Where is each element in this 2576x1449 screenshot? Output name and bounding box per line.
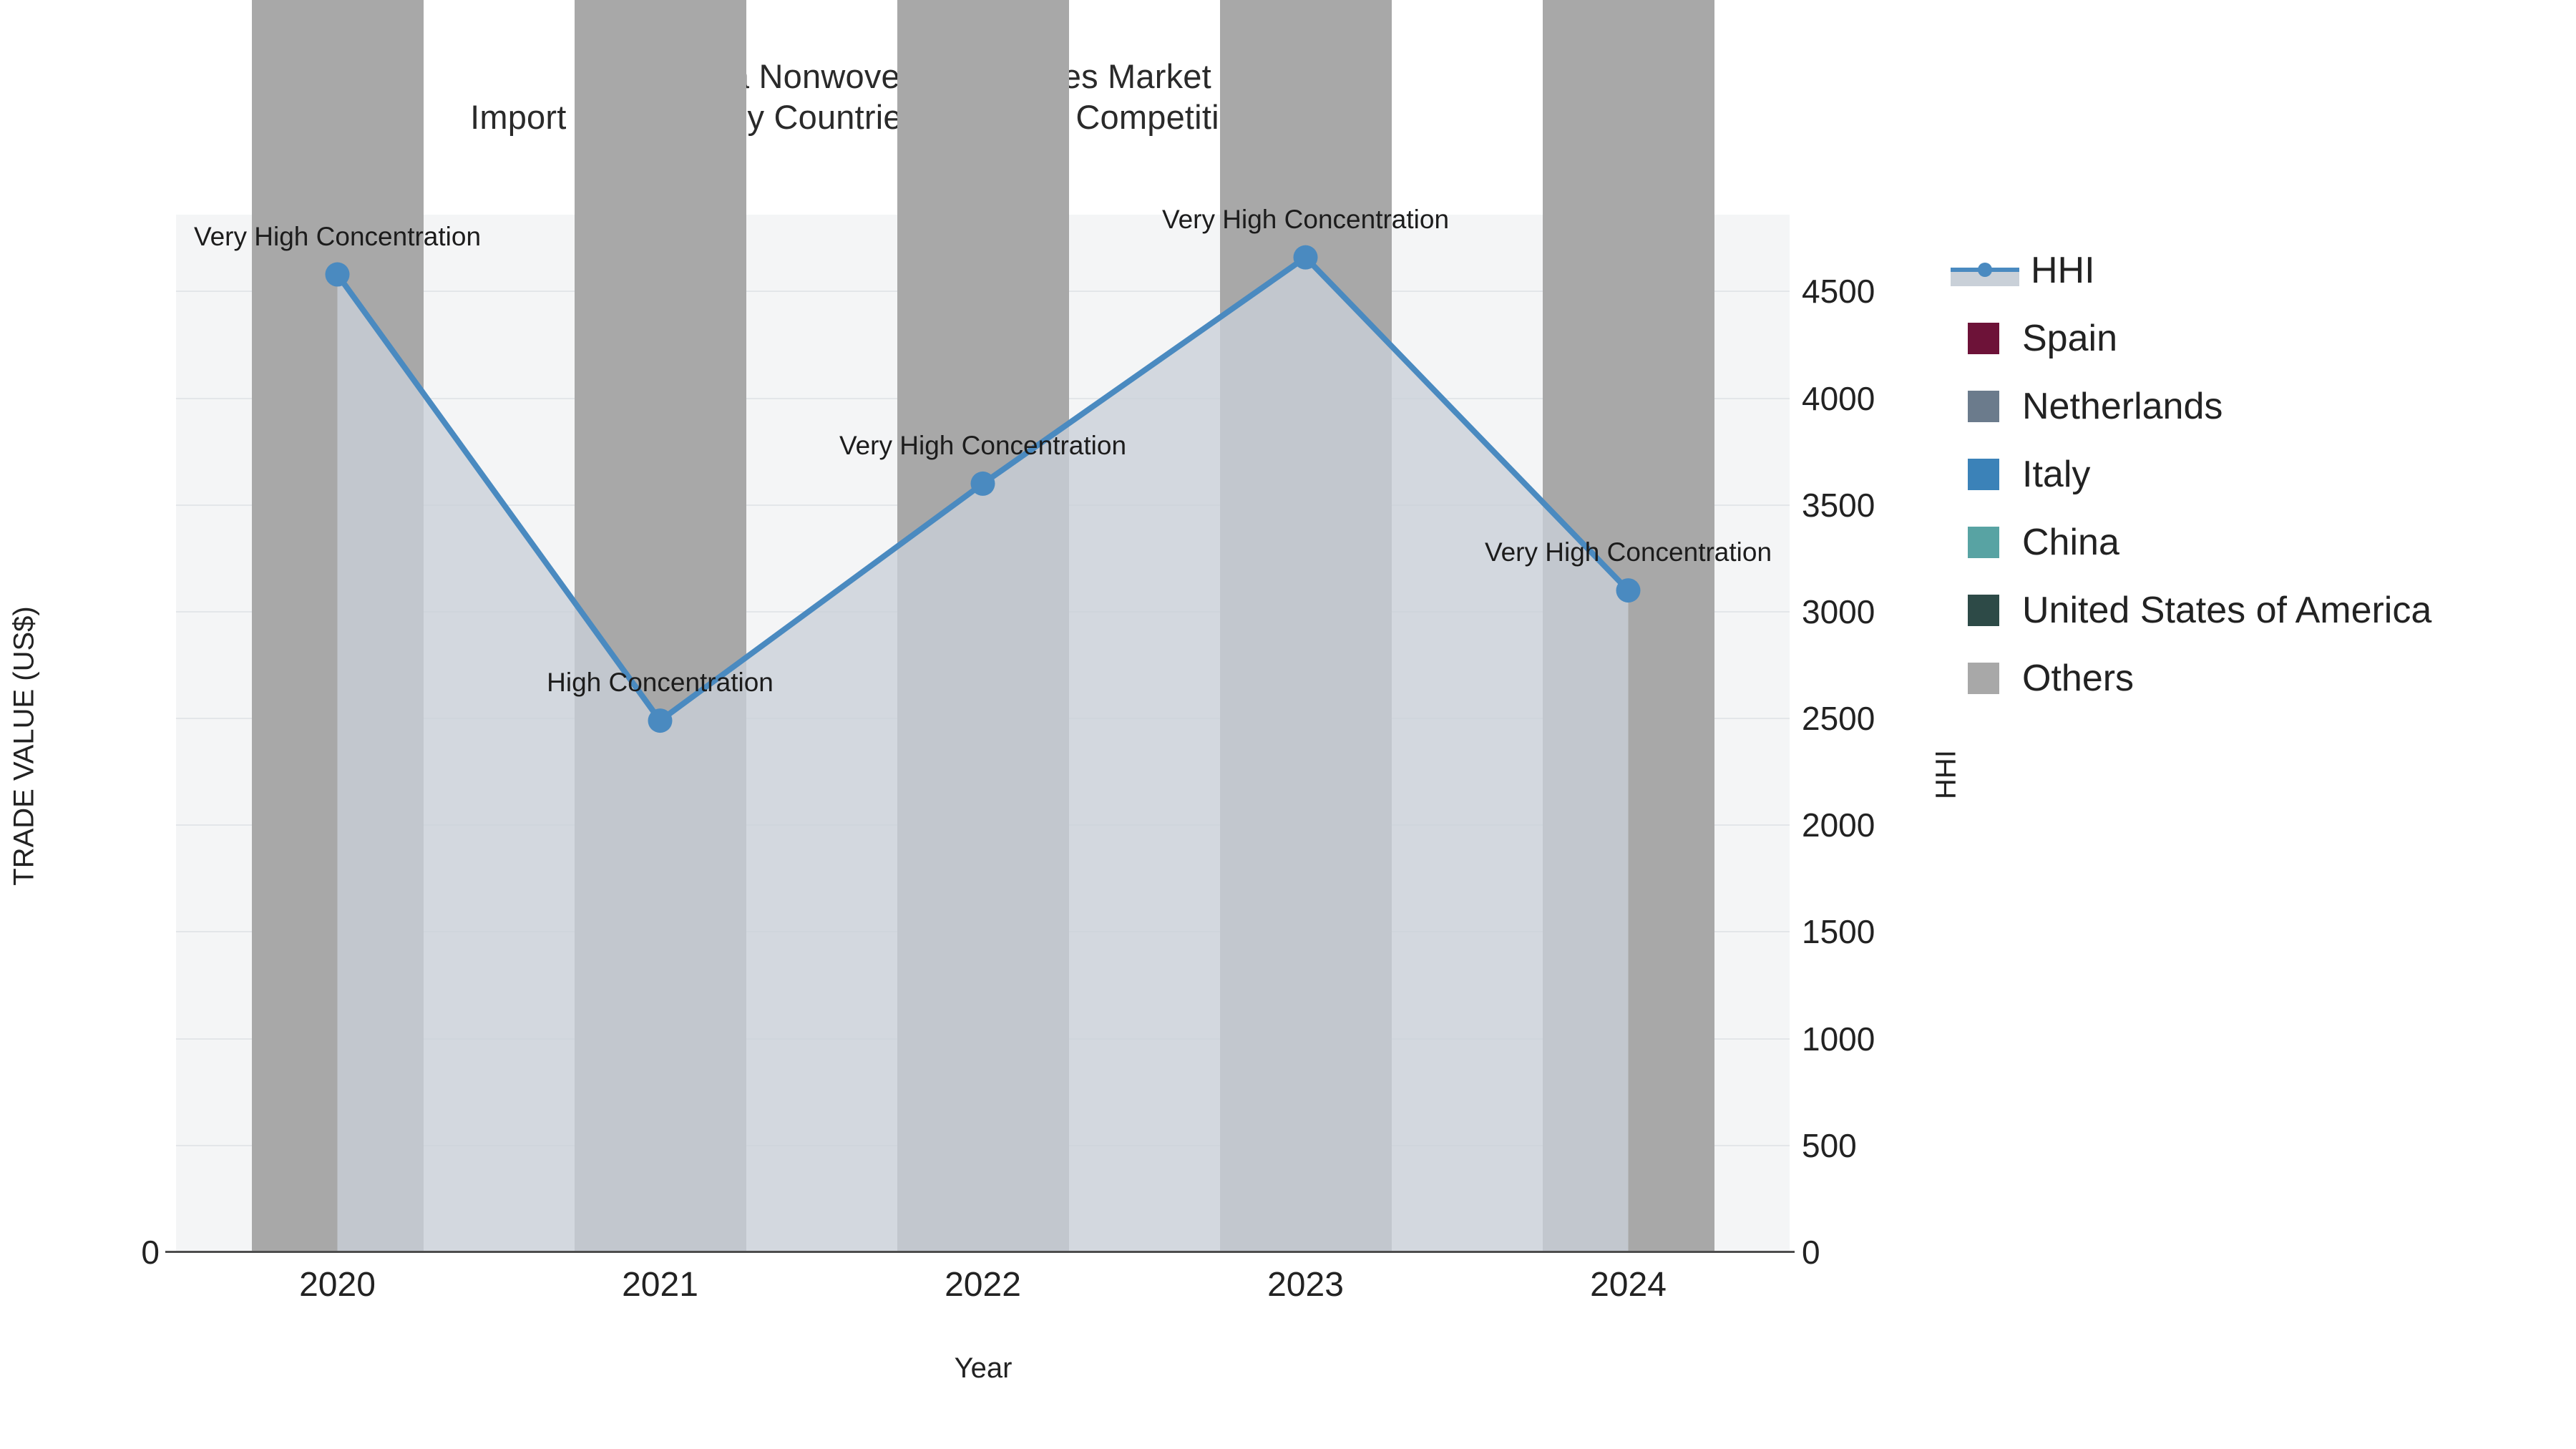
legend-color-swatch — [1968, 527, 1999, 558]
y-axis-zero-tick — [165, 1251, 177, 1253]
legend-item-label: HHI — [2031, 249, 2095, 292]
legend-item-spain[interactable]: Spain — [1959, 304, 2546, 372]
legend-item-netherlands[interactable]: Netherlands — [1959, 372, 2546, 440]
chart-root: Colombia Nonwoven Geotextiles Market Imp… — [0, 0, 2576, 1449]
x-tick-label-2020[interactable]: 2020 — [299, 1265, 376, 1304]
legend-color-swatch — [1968, 391, 1999, 422]
bar-segment-others[interactable] — [575, 0, 746, 1252]
annotation-2024: Very High Concentration — [1485, 537, 1772, 567]
right-axis-title: HHI — [1931, 689, 1963, 861]
right-tick-label-1000: 1000 — [1802, 1020, 1875, 1058]
annotation-2020: Very High Concentration — [194, 222, 481, 252]
bar-segment-others[interactable] — [1220, 0, 1392, 1252]
legend-item-label: United States of America — [2022, 589, 2431, 632]
legend-dot-icon — [1978, 263, 1992, 277]
annotation-2021: High Concentration — [547, 668, 774, 698]
x-tick-label-2021[interactable]: 2021 — [622, 1265, 698, 1304]
bar-segment-others[interactable] — [897, 0, 1069, 1252]
right-tick-label-3000: 3000 — [1802, 592, 1875, 631]
right-tick-label-500: 500 — [1802, 1126, 1857, 1165]
annotation-2023: Very High Concentration — [1162, 205, 1449, 235]
legend-item-label: Others — [2022, 657, 2134, 700]
bar-2023[interactable] — [1220, 215, 1392, 1252]
y-axis-title: TRADE VALUE (US$) — [9, 596, 41, 897]
bar-2021[interactable] — [575, 215, 746, 1252]
legend-item-united-states-of-america[interactable]: United States of America — [1959, 576, 2546, 644]
right-tick-label-1500: 1500 — [1802, 912, 1875, 951]
legend-color-swatch — [1968, 663, 1999, 694]
annotation-2022: Very High Concentration — [839, 431, 1126, 461]
y-tick-label-0: 0 — [141, 1233, 160, 1272]
legend: HHISpainNetherlandsItalyChinaUnited Stat… — [1959, 236, 2546, 712]
plot-area: Very High ConcentrationHigh Concentratio… — [176, 215, 1790, 1252]
legend-color-swatch — [1968, 323, 1999, 354]
legend-line-marker-icon — [1951, 255, 2019, 286]
bar-2022[interactable] — [897, 215, 1069, 1252]
legend-color-swatch — [1968, 459, 1999, 490]
x-tick-label-2022[interactable]: 2022 — [945, 1265, 1021, 1304]
legend-item-label: Spain — [2022, 317, 2117, 360]
bar-segment-others[interactable] — [252, 0, 424, 1252]
legend-item-china[interactable]: China — [1959, 508, 2546, 576]
right-tick-label-2000: 2000 — [1802, 806, 1875, 844]
x-tick-label-2023[interactable]: 2023 — [1267, 1265, 1344, 1304]
legend-item-label: Italy — [2022, 453, 2090, 496]
right-tick-label-2500: 2500 — [1802, 699, 1875, 738]
legend-item-hhi[interactable]: HHI — [1959, 236, 2546, 304]
x-tick-label-2024[interactable]: 2024 — [1590, 1265, 1667, 1304]
bar-2024[interactable] — [1543, 215, 1714, 1252]
legend-item-others[interactable]: Others — [1959, 644, 2546, 712]
right-tick-label-4500: 4500 — [1802, 272, 1875, 311]
legend-item-italy[interactable]: Italy — [1959, 440, 2546, 508]
x-axis-title: Year — [955, 1352, 1013, 1385]
right-tick-label-4000: 4000 — [1802, 379, 1875, 418]
right-tick-label-0: 0 — [1802, 1233, 1820, 1272]
legend-color-swatch — [1968, 595, 1999, 626]
x-axis-line — [176, 1251, 1795, 1253]
legend-item-label: China — [2022, 521, 2119, 564]
bar-segment-others[interactable] — [1543, 0, 1714, 1252]
right-tick-label-3500: 3500 — [1802, 486, 1875, 525]
legend-item-label: Netherlands — [2022, 385, 2223, 428]
bar-2020[interactable] — [252, 215, 424, 1252]
